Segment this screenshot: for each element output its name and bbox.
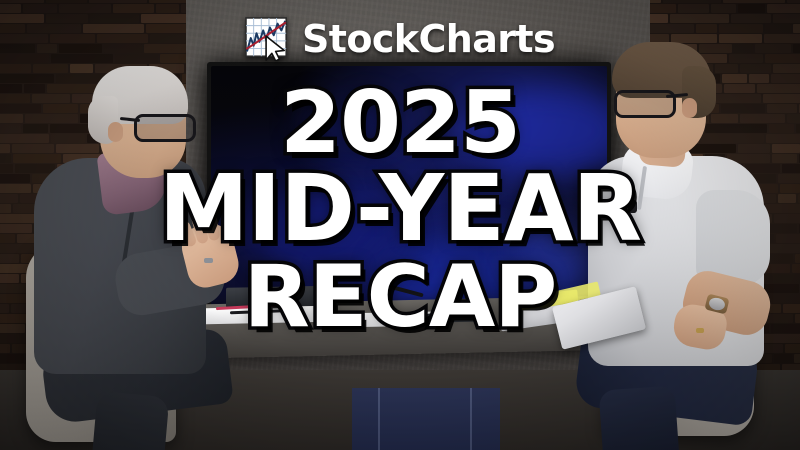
floor-accent-panel <box>352 388 500 450</box>
video-thumbnail: StockCharts 2025 MID-YEAR RECAP <box>0 0 800 450</box>
title-line-midyear: MID-YEAR <box>8 167 792 252</box>
brand-logo: StockCharts <box>0 17 800 61</box>
host-left-leg-lower <box>87 391 170 450</box>
stockcharts-chart-cursor-icon <box>245 17 291 61</box>
guest-right-leg-lower <box>599 385 682 450</box>
floor-seam-left <box>378 388 380 450</box>
title-line-year: 2025 <box>0 84 800 163</box>
floor-seam-right <box>470 388 472 450</box>
title-overlay: 2025 MID-YEAR RECAP <box>0 84 800 337</box>
title-line-recap: RECAP <box>0 258 800 337</box>
brand-name: StockCharts <box>302 20 555 58</box>
